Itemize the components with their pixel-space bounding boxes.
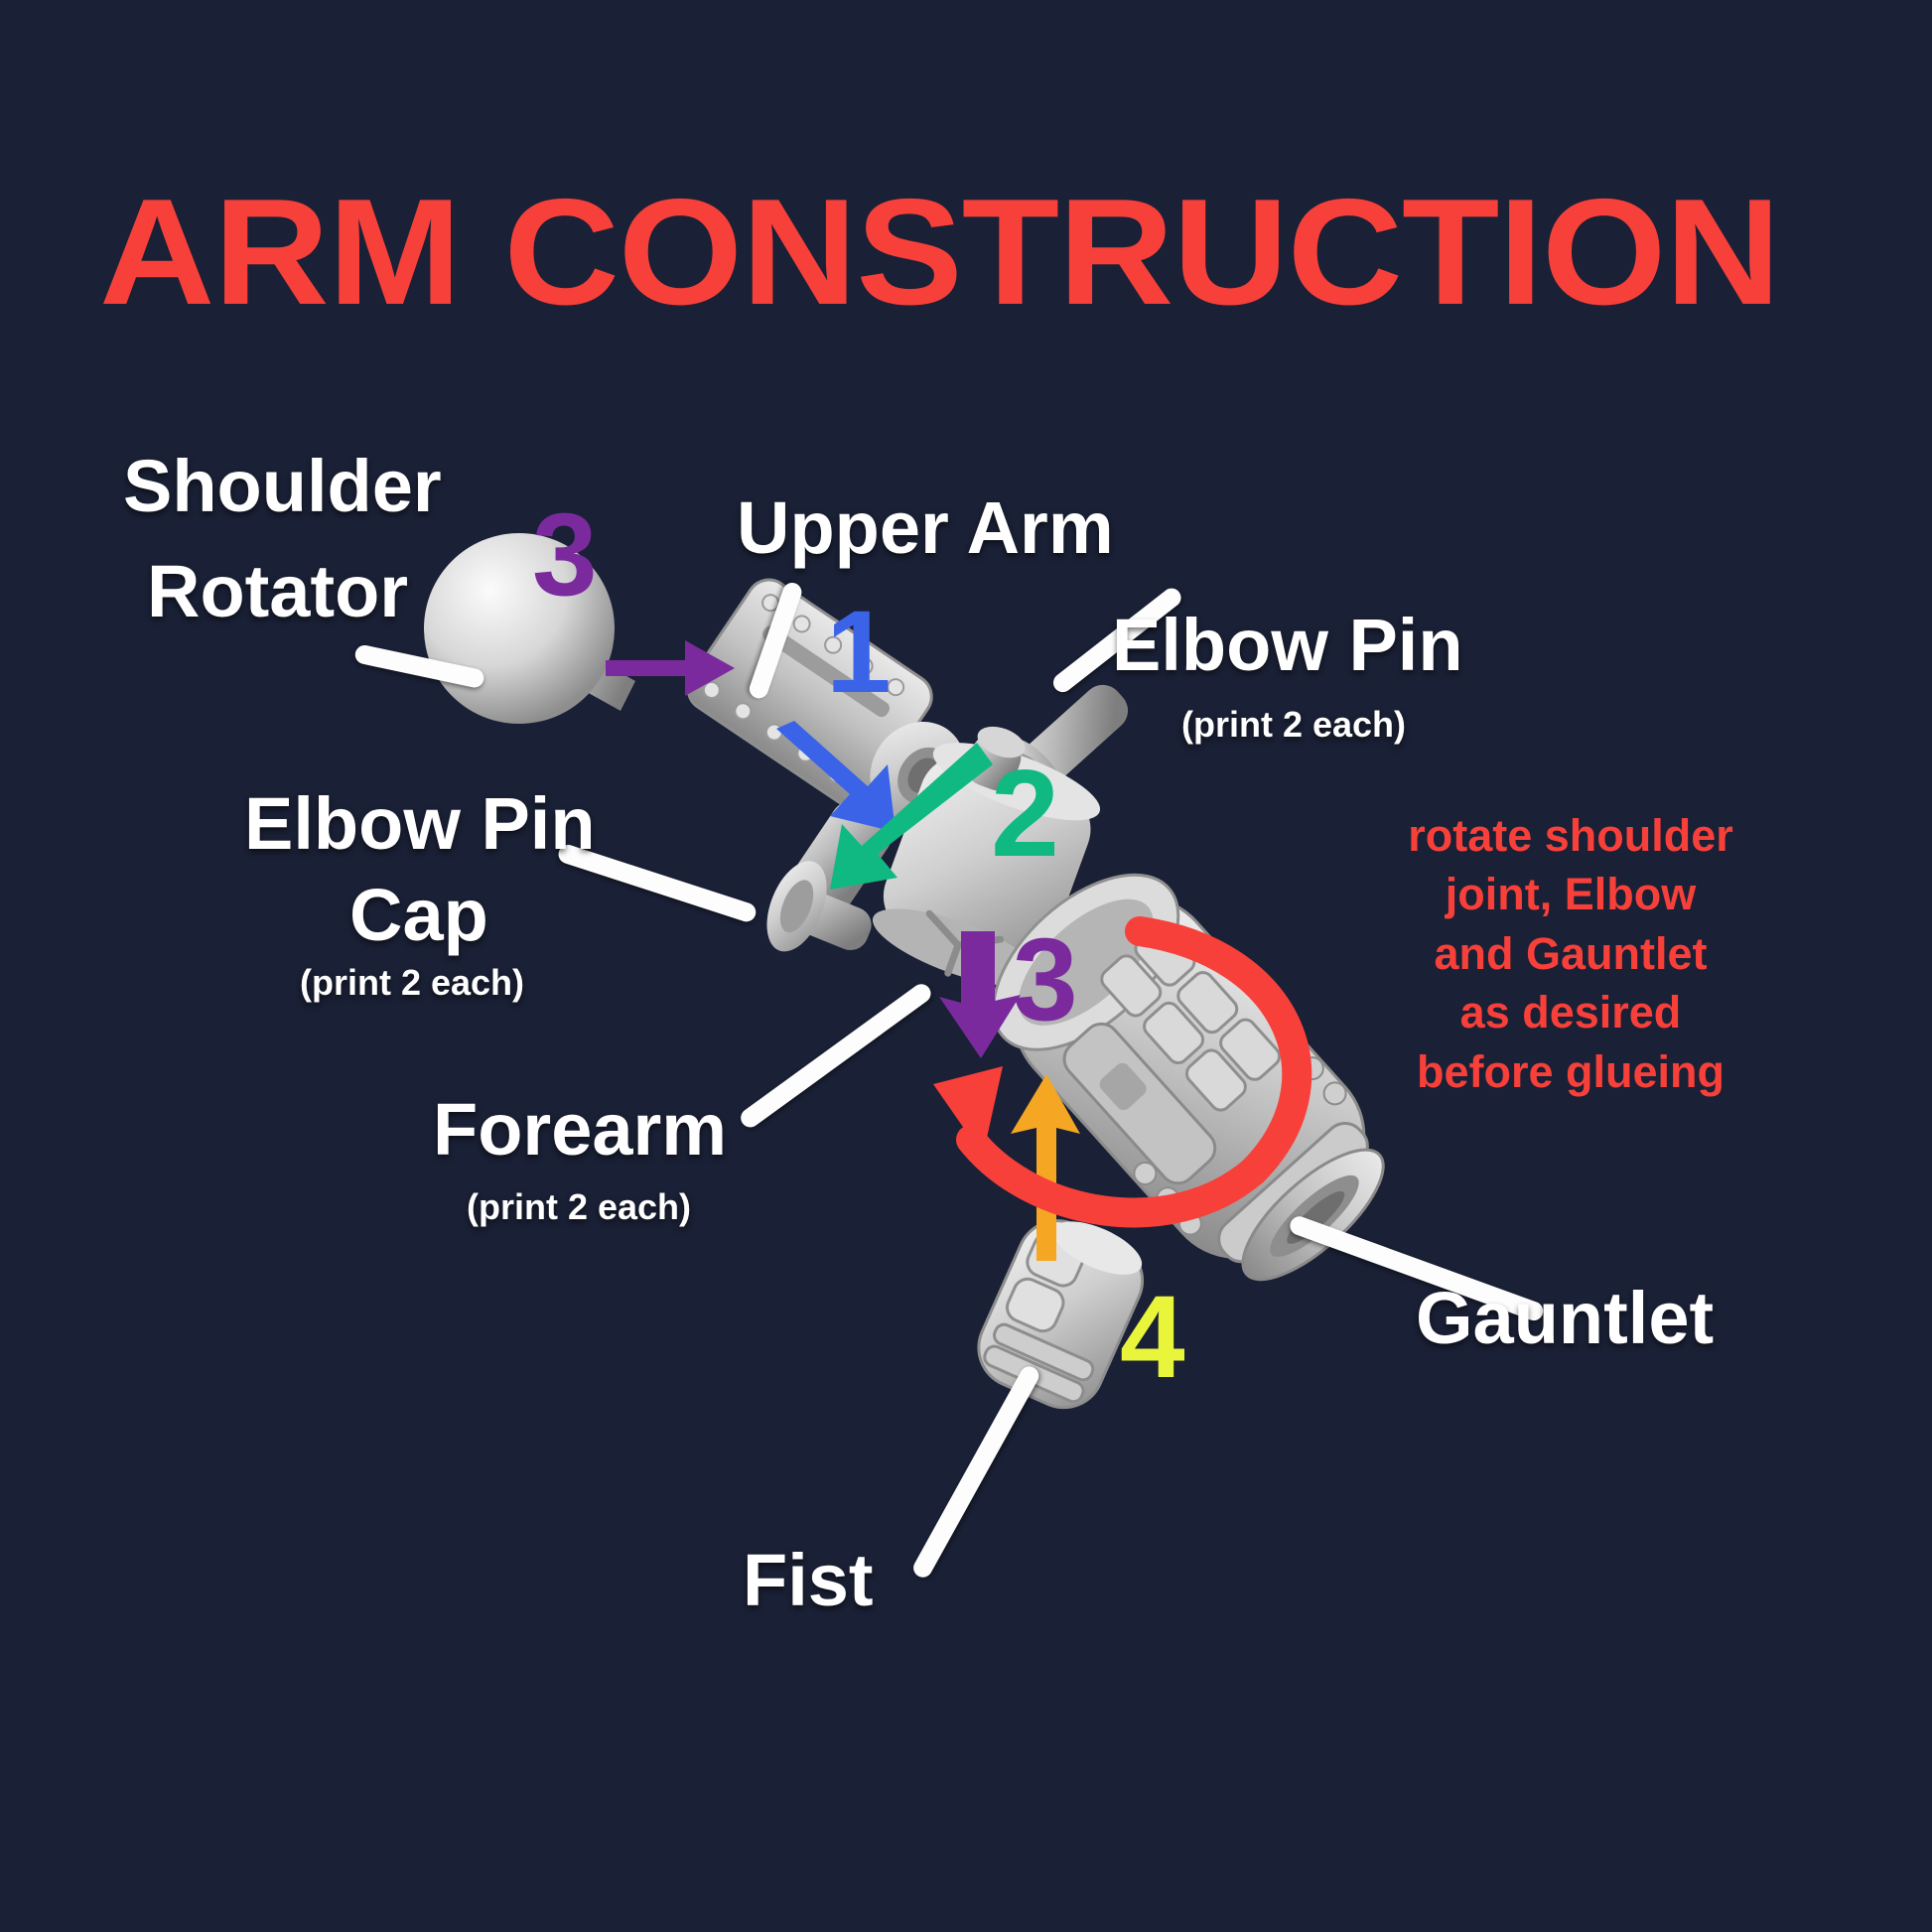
blue-arrow-1	[776, 721, 896, 832]
step-number-3-gauntlet: 3	[1013, 921, 1078, 1038]
label-forearm: Forearm	[433, 1092, 727, 1167]
step-number-1: 1	[826, 594, 892, 711]
label-shoulder-rotator-line2: Rotator	[147, 554, 408, 628]
label-upper-arm: Upper Arm	[737, 490, 1114, 565]
diagram-canvas: ARM CONSTRUCTION Shoulder Rotator Upper …	[0, 0, 1932, 1932]
step-number-2: 2	[991, 753, 1059, 876]
note-line-1: rotate shoulder	[1352, 806, 1789, 865]
note-line-3: and Gauntlet	[1352, 924, 1789, 983]
note-line-4: as desired	[1352, 983, 1789, 1041]
label-elbow-pin: Elbow Pin	[1112, 608, 1463, 682]
rotate-before-glueing-note: rotate shoulder joint, Elbow and Gauntle…	[1352, 806, 1789, 1101]
label-shoulder-rotator-line1: Shoulder	[123, 449, 442, 523]
step-number-4: 4	[1120, 1279, 1185, 1396]
label-elbow-pin-cap-line2: Cap	[349, 878, 488, 952]
label-fist: Fist	[743, 1543, 874, 1617]
label-gauntlet: Gauntlet	[1416, 1281, 1714, 1355]
note-line-2: joint, Elbow	[1352, 865, 1789, 923]
note-line-5: before glueing	[1352, 1042, 1789, 1101]
purple-shoulder-arrow	[606, 640, 735, 696]
label-forearm-note: (print 2 each)	[467, 1189, 691, 1226]
page-title: ARM CONSTRUCTION	[99, 177, 1780, 328]
label-elbow-pin-cap-line1: Elbow Pin	[244, 786, 596, 861]
label-elbow-pin-note: (print 2 each)	[1181, 707, 1406, 744]
label-elbow-pin-cap-note: (print 2 each)	[300, 965, 524, 1002]
step-number-3-shoulder: 3	[532, 496, 598, 614]
purple-arrow-3	[939, 931, 1021, 1058]
